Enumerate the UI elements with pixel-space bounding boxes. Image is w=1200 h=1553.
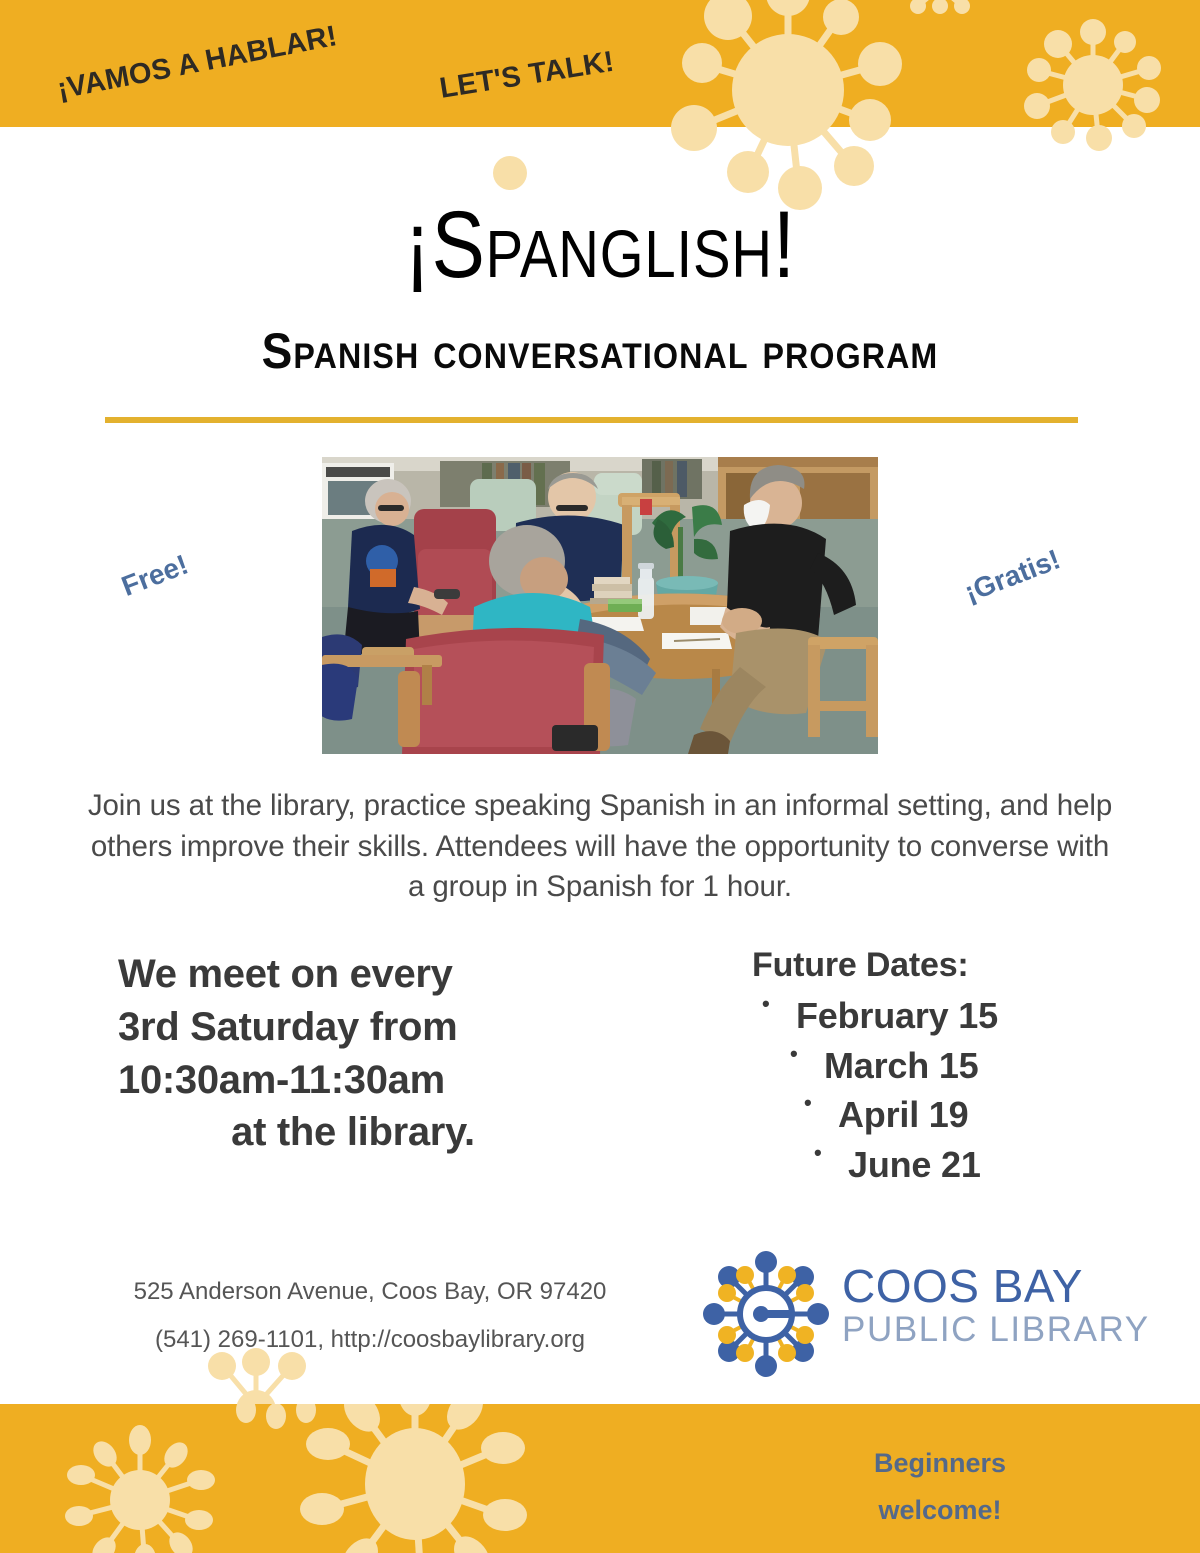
list-item: June 21 [752,1140,1102,1190]
free-label-spanish: ¡Gratis! [960,543,1064,609]
logo-name: COOS BAY [842,1262,1102,1311]
logo-tagline: PUBLIC LIBRARY [842,1311,1102,1350]
divider-rule [105,417,1078,423]
future-dates-block: Future Dates: February 15 March 15 April… [752,946,1102,1190]
program-photo [322,457,878,754]
list-item: February 15 [752,991,1102,1041]
library-starburst-mark-icon [700,1248,832,1380]
list-item: March 15 [752,1041,1102,1091]
schedule-line-3: 10:30am-11:30am [118,1054,588,1107]
beginners-welcome-note: Beginners welcome! [795,1440,1085,1535]
photo-illustration [322,457,878,754]
welcome-line-2: welcome! [795,1487,1085,1534]
logo-wordmark: COOS BAY PUBLIC LIBRARY [842,1262,1102,1349]
future-dates-title: Future Dates: [752,946,1102,985]
starburst-decoration [214,1404,334,1468]
future-dates-list: February 15 March 15 April 19 June 21 [752,991,1102,1190]
program-description: Join us at the library, practice speakin… [86,786,1114,908]
coos-bay-public-library-logo: COOS BAY PUBLIC LIBRARY [700,1248,1100,1378]
page-title: ¡Spanglish! [96,196,1104,296]
starburst-decoration [60,1420,220,1553]
contact-info: 525 Anderson Avenue, Coos Bay, OR 97420 … [60,1268,680,1364]
schedule-line-1: We meet on every [118,948,588,1001]
page-subtitle: Spanish conversational program [48,322,1152,380]
welcome-line-1: Beginners [795,1440,1085,1487]
free-label-english: Free! [117,549,192,603]
starburst-decoration [300,1404,530,1553]
phone-and-website[interactable]: (541) 269-1101, http://coosbaylibrary.or… [60,1316,680,1364]
schedule-line-2: 3rd Saturday from [118,1001,588,1054]
schedule-line-4: at the library. [118,1106,588,1159]
street-address: 525 Anderson Avenue, Coos Bay, OR 97420 [60,1268,680,1316]
schedule-block: We meet on every 3rd Saturday from 10:30… [118,948,588,1159]
list-item: April 19 [752,1090,1102,1140]
